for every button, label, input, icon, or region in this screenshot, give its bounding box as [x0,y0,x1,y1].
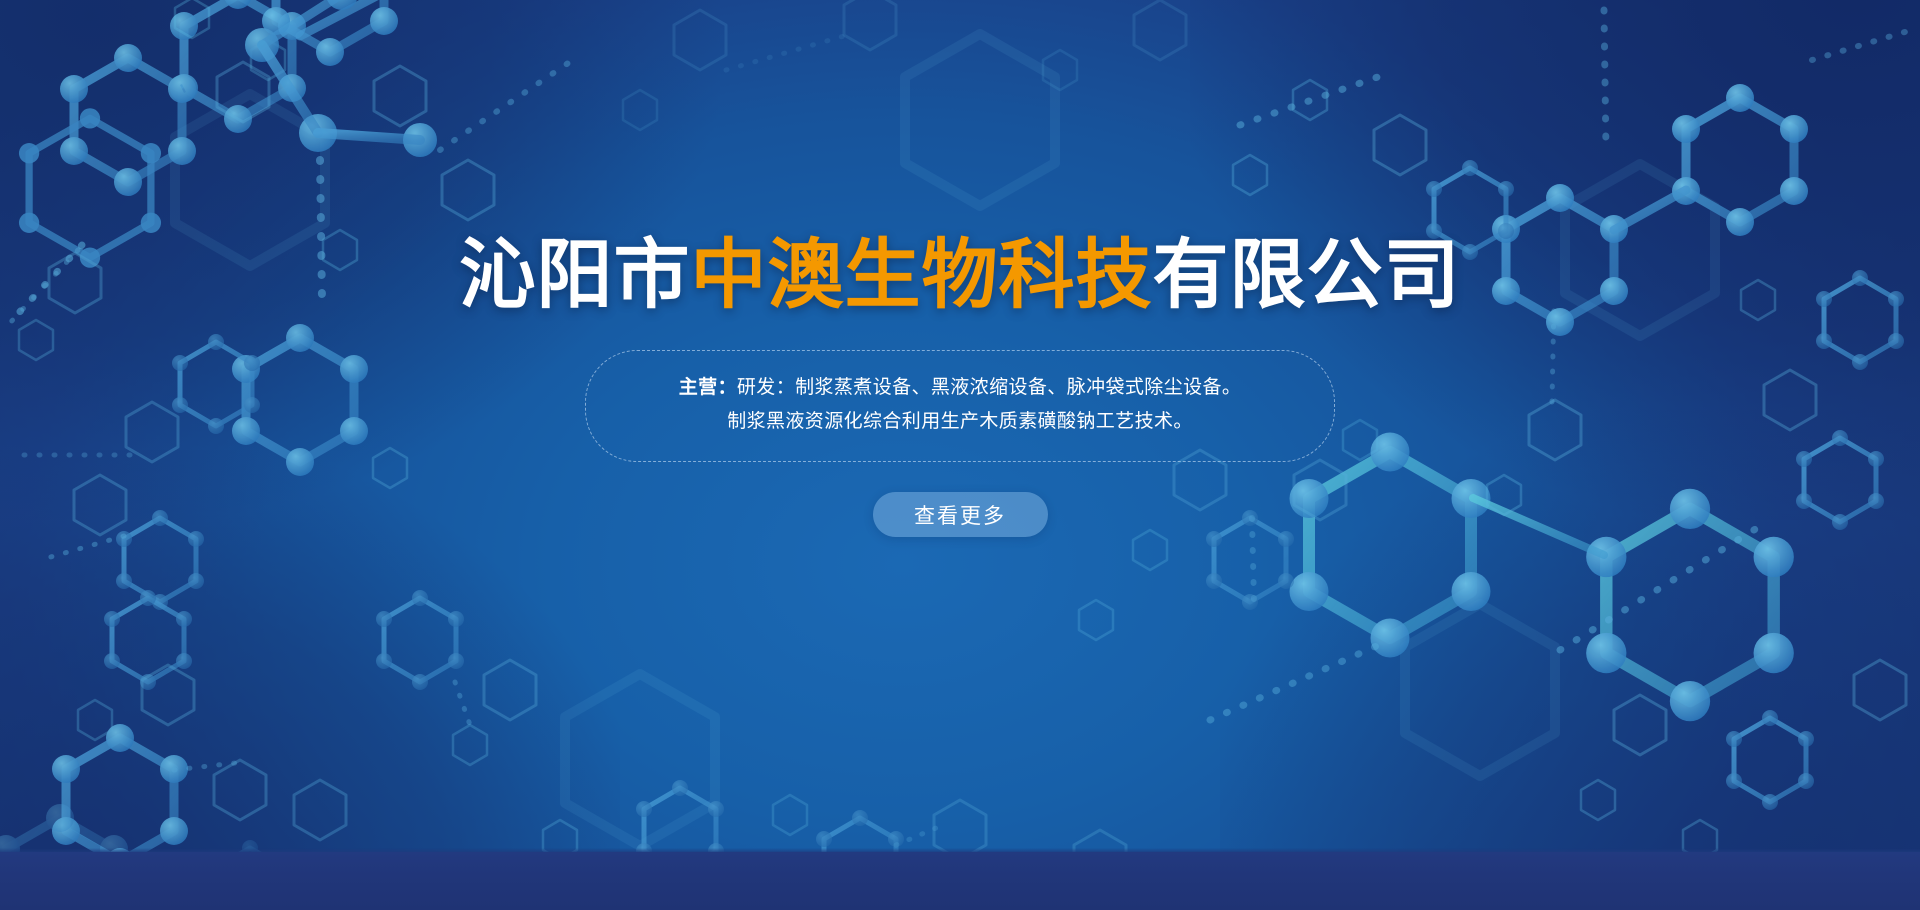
title-segment-suffix: 有限公司 [1153,233,1461,318]
subtitle-dashed-box: 主营：研发：制浆蒸煮设备、黑液浓缩设备、脉冲袋式除尘设备。 制浆黑液资源化综合利… [585,350,1335,462]
hero-content: 沁阳市中澳生物科技有限公司 主营：研发：制浆蒸煮设备、黑液浓缩设备、脉冲袋式除尘… [0,0,1920,852]
subtitle-line-2: 制浆黑液资源化综合利用生产木质素磺酸钠工艺技术。 [612,405,1308,439]
title-segment-brand: 中澳生物科技 [691,233,1153,318]
subtitle-line-1-text: 研发：制浆蒸煮设备、黑液浓缩设备、脉冲袋式除尘设备。 [737,377,1241,398]
title-segment-prefix: 沁阳市 [460,233,691,318]
page-title: 沁阳市中澳生物科技有限公司 [460,0,1461,314]
view-more-button[interactable]: 查看更多 [873,492,1048,537]
subtitle-line-1: 主营：研发：制浆蒸煮设备、黑液浓缩设备、脉冲袋式除尘设备。 [612,371,1308,405]
footer-band [0,852,1920,910]
hero-banner: 沁阳市中澳生物科技有限公司 主营：研发：制浆蒸煮设备、黑液浓缩设备、脉冲袋式除尘… [0,0,1920,910]
subtitle-label: 主营： [679,377,737,398]
